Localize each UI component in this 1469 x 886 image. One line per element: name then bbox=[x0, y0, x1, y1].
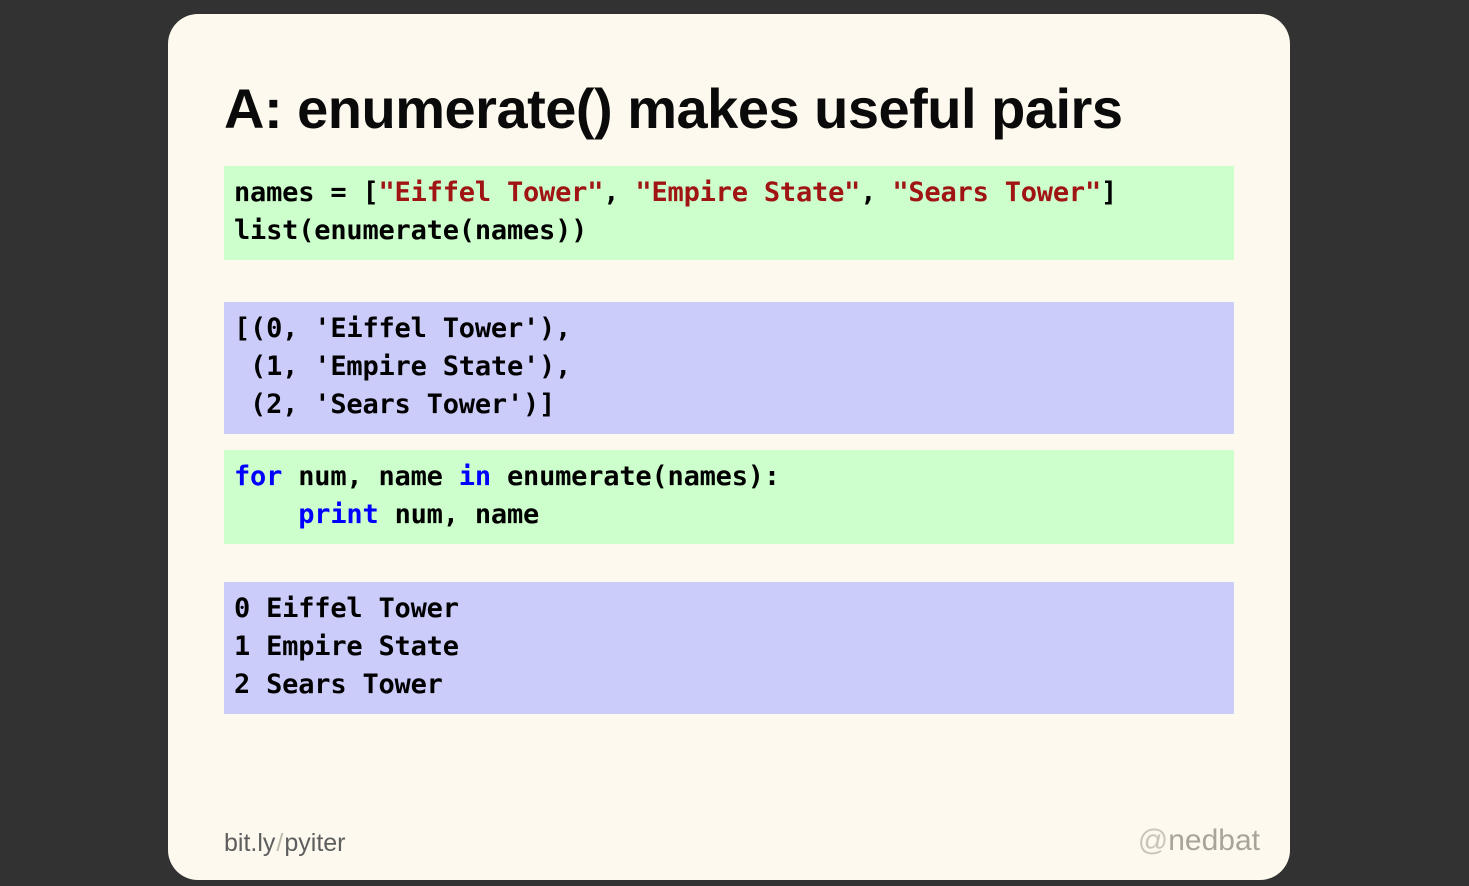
footer-handle-name: nedbat bbox=[1168, 824, 1260, 857]
output-line: (2, 'Sears Tower')] bbox=[234, 389, 555, 420]
output-line: [(0, 'Eiffel Tower'), bbox=[234, 313, 571, 344]
footer-link-prefix: bit.ly bbox=[224, 829, 275, 857]
slide-card: A: enumerate() makes useful pairs names … bbox=[168, 14, 1290, 880]
output-line: 0 Eiffel Tower bbox=[234, 593, 459, 624]
code-token-keyword: print bbox=[298, 499, 378, 530]
code-token-indent bbox=[234, 499, 298, 530]
output-line: 1 Empire State bbox=[234, 631, 459, 662]
output-block-1: [(0, 'Eiffel Tower'), (1, 'Empire State'… bbox=[224, 302, 1234, 434]
footer-handle: @nedbat bbox=[1138, 824, 1260, 858]
code-line: for num, name in enumerate(names): bbox=[234, 461, 780, 492]
code-line: names = ["Eiffel Tower", "Empire State",… bbox=[234, 177, 1117, 208]
code-token-string: "Empire State" bbox=[635, 177, 860, 208]
slide-stage: A: enumerate() makes useful pairs names … bbox=[0, 0, 1469, 886]
code-token-plain: enumerate(names): bbox=[491, 461, 780, 492]
code-token-keyword: for bbox=[234, 461, 282, 492]
page-title: A: enumerate() makes useful pairs bbox=[224, 76, 1122, 142]
code-block-2: for num, name in enumerate(names): print… bbox=[224, 450, 1234, 544]
output-block-2: 0 Eiffel Tower 1 Empire State 2 Sears To… bbox=[224, 582, 1234, 714]
footer-link[interactable]: bit.ly/pyiter bbox=[224, 829, 346, 858]
code-token-string: "Eiffel Tower" bbox=[379, 177, 604, 208]
code-token-string: "Sears Tower" bbox=[892, 177, 1101, 208]
code-token-plain: num, name bbox=[282, 461, 459, 492]
footer-link-suffix: pyiter bbox=[284, 829, 345, 857]
code-block-1: names = ["Eiffel Tower", "Empire State",… bbox=[224, 166, 1234, 260]
output-line: 2 Sears Tower bbox=[234, 669, 443, 700]
code-line: print num, name bbox=[234, 499, 539, 530]
code-token-plain: , bbox=[603, 177, 635, 208]
output-line: (1, 'Empire State'), bbox=[234, 351, 571, 382]
code-token-plain: , bbox=[860, 177, 892, 208]
at-sign-icon: @ bbox=[1138, 824, 1168, 857]
code-token-plain: num, name bbox=[379, 499, 540, 530]
code-token-plain: ] bbox=[1101, 177, 1117, 208]
code-line: list(enumerate(names)) bbox=[234, 215, 587, 246]
code-token-plain: names = [ bbox=[234, 177, 379, 208]
code-token-keyword: in bbox=[459, 461, 491, 492]
